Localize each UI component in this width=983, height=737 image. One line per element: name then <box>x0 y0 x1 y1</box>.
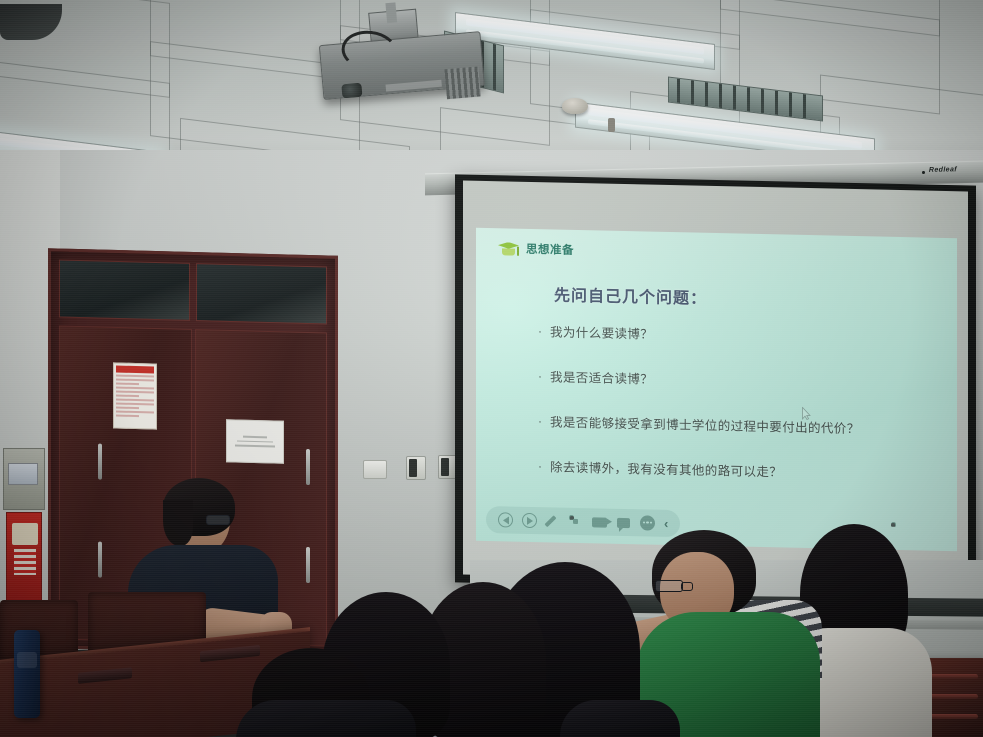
ellipsis-circle-icon[interactable] <box>640 515 655 530</box>
bullet-marker: · <box>538 325 542 338</box>
video-camera-icon[interactable] <box>592 514 607 529</box>
bullet-text: 我为什么要读博？ <box>550 325 653 342</box>
bullet-marker: · <box>538 415 542 428</box>
glasses-icon <box>206 515 230 525</box>
door-handle[interactable] <box>306 547 310 583</box>
audience-foreground-shoulder <box>560 700 680 737</box>
screen-surface: 思想准备 先问自己几个问题： · 我为什么要读博？ · 我是否适合读博？ · 我… <box>463 180 968 585</box>
red-notice-poster <box>113 362 157 429</box>
previous-slide-button[interactable] <box>498 512 513 527</box>
glasses-icon <box>655 580 683 592</box>
white-paper-sign <box>226 419 284 464</box>
graduation-cap-icon <box>498 241 519 256</box>
electrical-meter-box <box>3 448 45 510</box>
door-transom <box>59 259 327 324</box>
light-switch[interactable] <box>363 460 387 479</box>
transom-pane <box>59 259 190 320</box>
power-socket[interactable] <box>406 456 426 480</box>
door-handle[interactable] <box>306 449 310 485</box>
door-handle[interactable] <box>98 542 102 578</box>
next-slide-button[interactable] <box>522 513 537 528</box>
bullet-text: 我是否能够接受拿到博士学位的过程中要付出的代价？ <box>550 415 860 437</box>
slide-header-label: 思想准备 <box>526 241 574 258</box>
slide-toolbar[interactable]: ‹ <box>486 506 680 537</box>
fire-extinguisher-cabinet <box>6 512 42 604</box>
transom-pane <box>196 263 327 324</box>
bullet-marker: · <box>538 460 542 473</box>
projector-label <box>386 80 442 92</box>
slide-header: 思想准备 <box>498 240 574 258</box>
focus-frame-icon[interactable] <box>569 514 583 528</box>
sprinkler-head <box>608 118 615 132</box>
list-item: · 除去读博外，我有没有其他的路可以走？ <box>538 460 939 484</box>
glasses-icon <box>681 582 693 591</box>
speaker-hair-side <box>163 500 193 546</box>
bullet-text: 我是否适合读博？ <box>550 370 653 387</box>
slide-bullet-list: · 我为什么要读博？ · 我是否适合读博？ · 我是否能够接受拿到博士学位的过程… <box>538 325 939 514</box>
door-handle[interactable] <box>98 444 102 480</box>
smoke-detector <box>562 98 588 114</box>
cabinet-text-strip <box>14 549 36 575</box>
cabinet-label <box>12 523 38 545</box>
screen-brand-label: Redleaf <box>929 166 957 174</box>
pen-icon[interactable] <box>546 514 560 528</box>
classroom-photo: Redleaf 思想准备 先问自己几个问题： · 我为什么要读博？ <box>0 0 983 737</box>
bullet-marker: · <box>538 370 542 383</box>
speech-bubble-icon[interactable] <box>616 515 631 530</box>
slide-title: 先问自己几个问题： <box>554 281 707 308</box>
list-item: · 我是否适合读博？ <box>538 370 939 394</box>
ceiling-projector <box>316 3 488 107</box>
projector-vent <box>444 66 480 99</box>
thermos-band <box>17 652 37 668</box>
blue-thermos-bottle[interactable] <box>14 630 40 718</box>
projected-slide[interactable]: 思想准备 先问自己几个问题： · 我为什么要读博？ · 我是否适合读博？ · 我… <box>476 228 957 551</box>
bullet-text: 除去读博外，我有没有其他的路可以走？ <box>550 460 782 480</box>
projector-lens <box>341 83 362 99</box>
chevron-left-icon[interactable]: ‹ <box>664 517 668 530</box>
meter-window <box>8 463 38 485</box>
list-item: · 我是否能够接受拿到博士学位的过程中要付出的代价？ <box>538 415 939 439</box>
projector-arm <box>385 2 397 23</box>
audience-foreground-shoulder <box>236 700 416 737</box>
list-item: · 我为什么要读博？ <box>538 325 939 349</box>
mouse-pointer-icon <box>802 407 811 420</box>
